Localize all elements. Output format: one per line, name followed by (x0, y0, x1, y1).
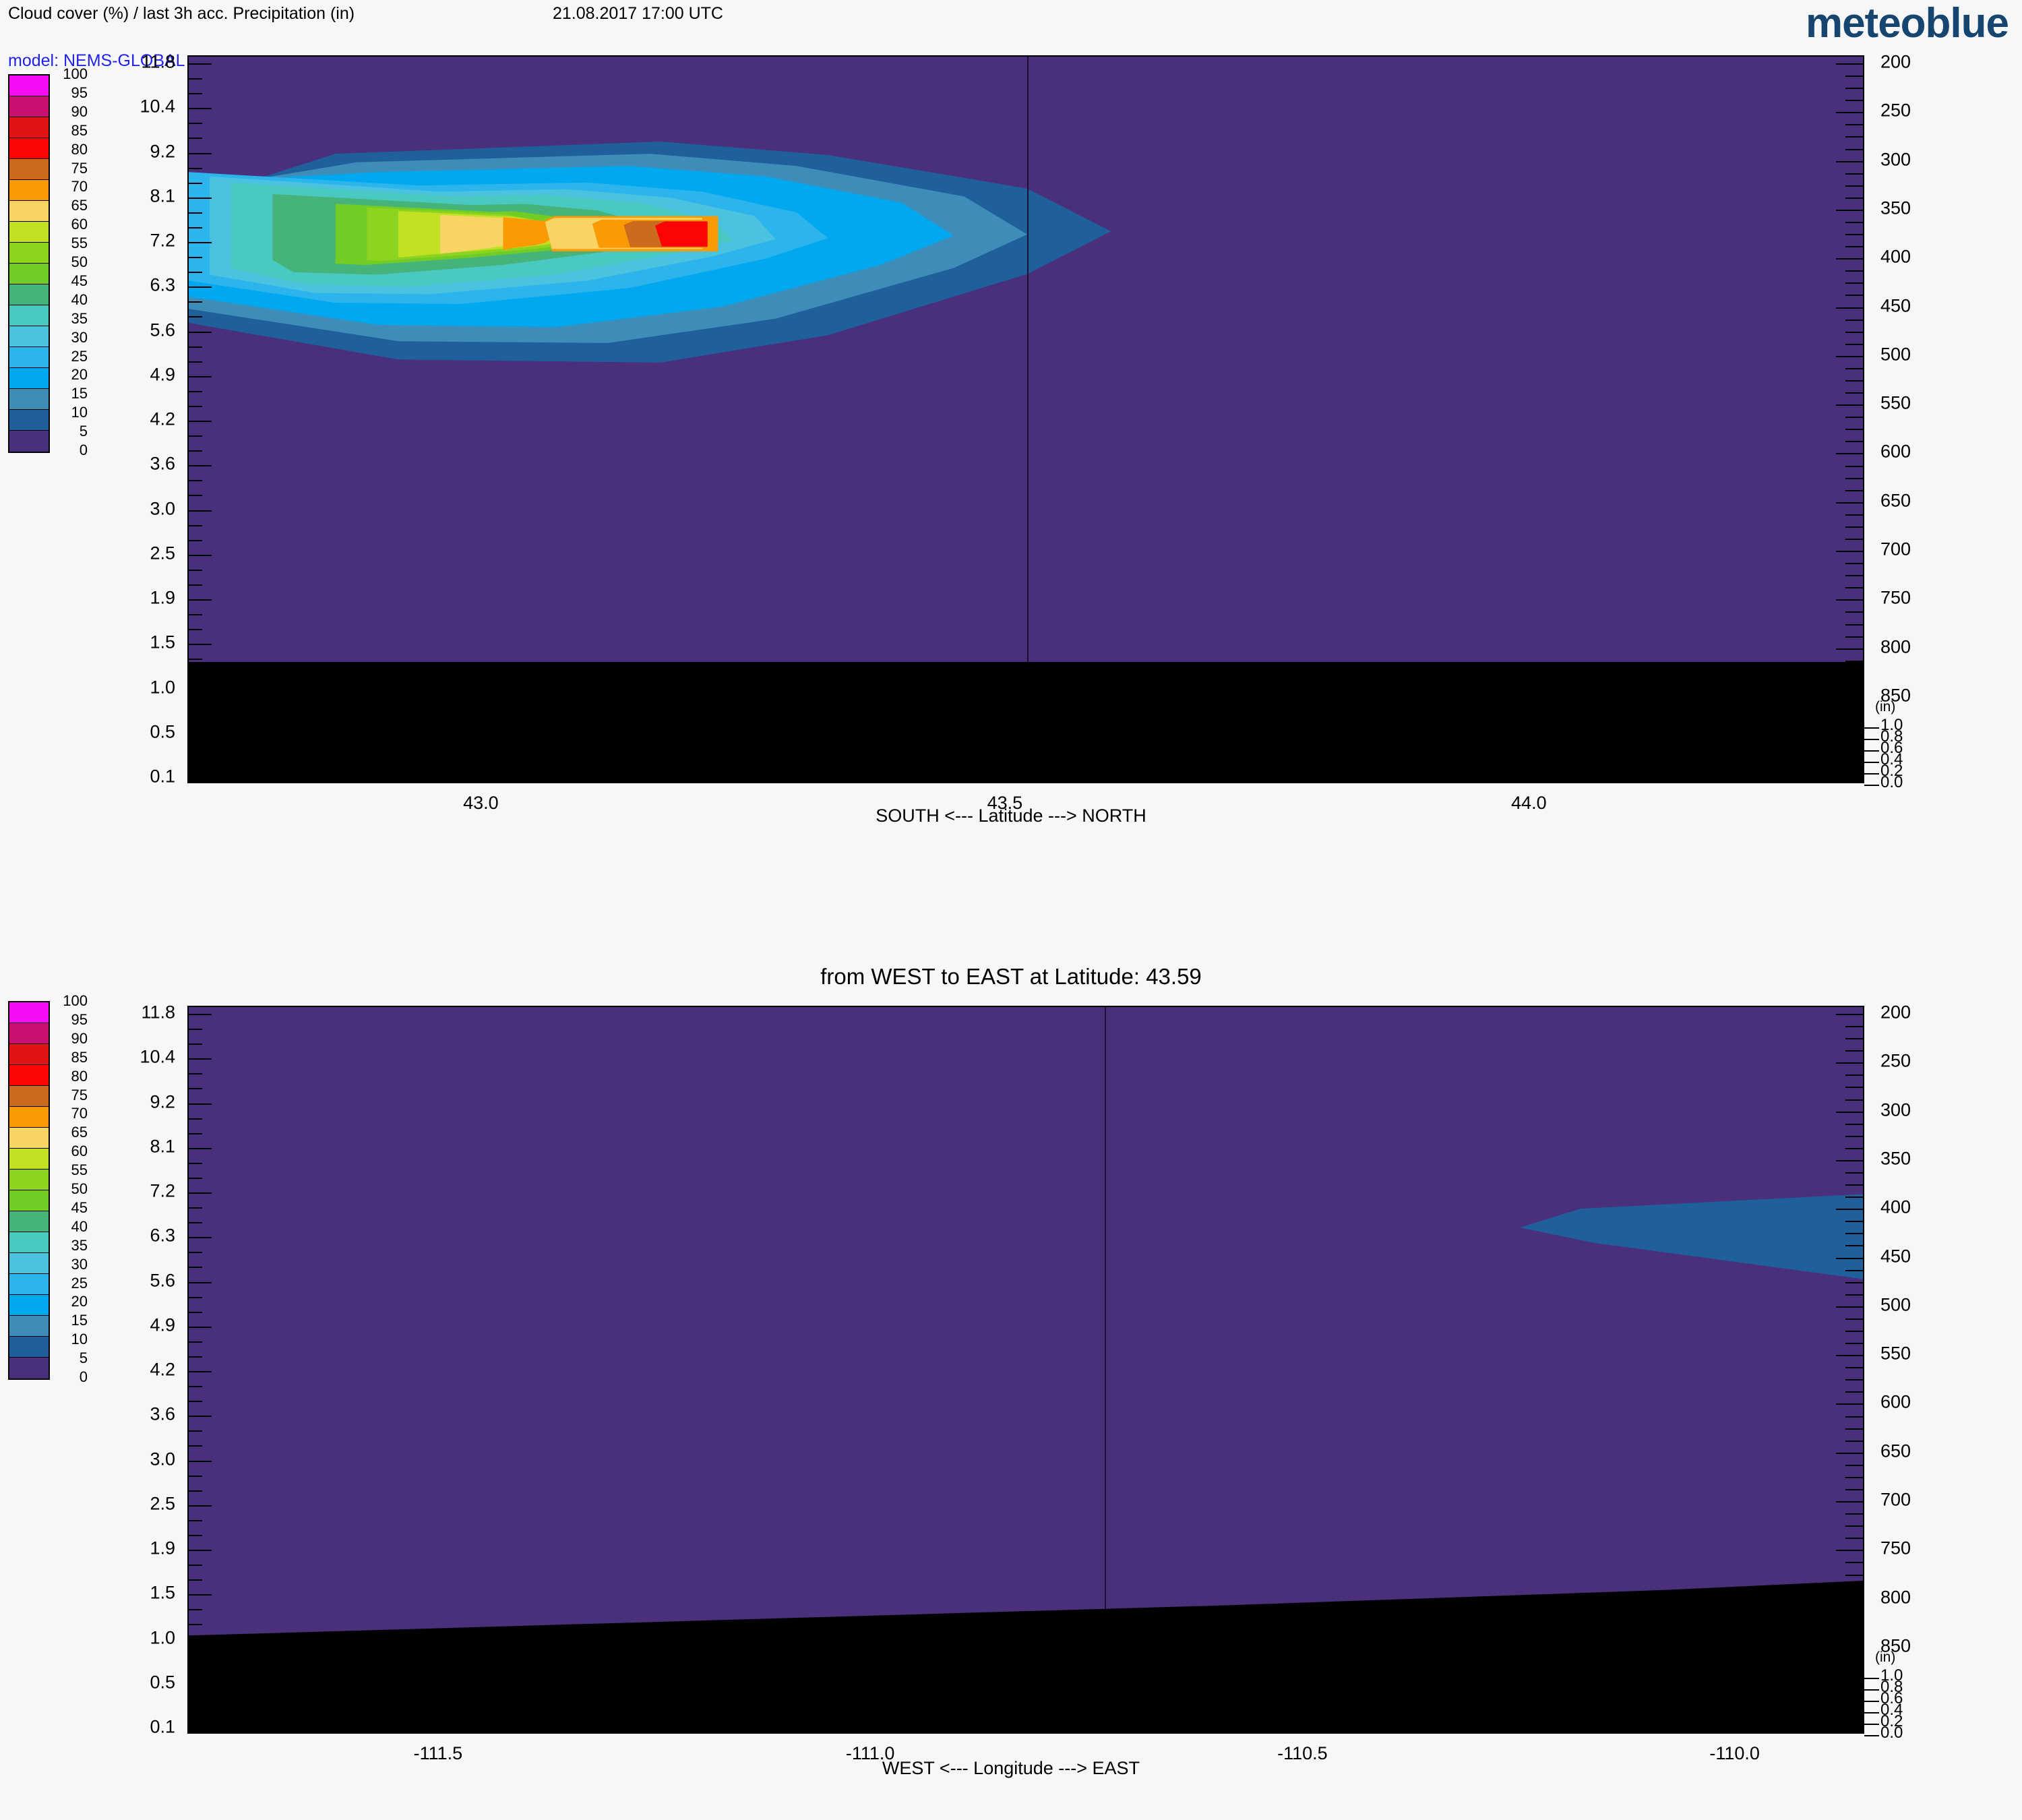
y-axis-label-pressure: 200 (1880, 52, 1961, 73)
y-axis-label-pressure: 700 (1880, 539, 1961, 560)
height-axis-tick (189, 614, 202, 615)
colorbar-swatch[interactable] (9, 1065, 49, 1086)
precip-scale-tick (1864, 762, 1879, 763)
precip-scale-tick (1864, 727, 1879, 729)
colorbar-tick-label: 45 (53, 272, 88, 290)
colorbar-swatch[interactable] (9, 222, 49, 243)
y-axis-label-height: 8.1 (94, 185, 175, 206)
y-axis-label-pressure: 450 (1880, 1246, 1961, 1267)
colorbar-tick-label: 0 (53, 442, 88, 459)
pressure-axis-tick (1845, 1538, 1863, 1539)
height-axis-tick (189, 1252, 202, 1253)
height-axis-tick (189, 1178, 202, 1179)
pressure-axis-tick (1845, 1660, 1863, 1661)
precip-scale-tick (1864, 739, 1879, 740)
height-axis-tick (189, 525, 202, 526)
colorbar-swatch[interactable] (9, 117, 49, 138)
height-axis-tick (189, 138, 202, 139)
colorbar-swatch[interactable] (9, 368, 49, 389)
pressure-axis-tick (1845, 1221, 1863, 1222)
colorbar-tick-label: 15 (53, 385, 88, 402)
height-axis-tick (189, 1073, 202, 1074)
colorbar-tick-label: 75 (53, 1087, 88, 1104)
pressure-axis-tick (1845, 1623, 1863, 1625)
pressure-axis-tick (1845, 124, 1863, 125)
colorbar-tick-label: 55 (53, 235, 88, 252)
y-axis-label-pressure: 800 (1880, 1587, 1961, 1608)
y-axis-label-height: 3.6 (94, 454, 175, 475)
colorbar-tick-label: 65 (53, 197, 88, 214)
height-axis-tick (189, 153, 212, 154)
colorbar-swatch[interactable] (9, 284, 49, 305)
colorbar-swatch[interactable] (9, 410, 49, 431)
pressure-axis-tick (1845, 1440, 1863, 1442)
colorbar-tick-label: 35 (53, 310, 88, 328)
colorbar-swatch[interactable] (9, 264, 49, 284)
y-axis-label-pressure: 550 (1880, 393, 1961, 414)
height-axis-tick (189, 332, 212, 333)
colorbar-swatch[interactable] (9, 1274, 49, 1295)
y-axis-label-height: 2.5 (94, 543, 175, 564)
pressure-axis-tick (1845, 1270, 1863, 1271)
pressure-axis-tick (1845, 563, 1863, 564)
height-axis-tick (189, 555, 212, 556)
pressure-axis-tick (1845, 1282, 1863, 1283)
pressure-axis-tick (1845, 1672, 1863, 1673)
height-axis-tick (189, 644, 212, 645)
height-axis-tick (189, 704, 202, 705)
pressure-axis-tick (1845, 441, 1863, 442)
pressure-axis-tick (1845, 1087, 1863, 1088)
colorbar-swatch[interactable] (9, 180, 49, 201)
height-axis-tick (189, 689, 212, 690)
pressure-axis-tick (1845, 1416, 1863, 1418)
colorbar-swatch[interactable] (9, 159, 49, 180)
colorbar-tick-label: 0 (53, 1368, 88, 1386)
colorbar-swatch[interactable] (9, 1149, 49, 1170)
colorbar-swatch[interactable] (9, 138, 49, 159)
pressure-axis-tick (1845, 380, 1863, 382)
colorbar-swatch[interactable] (9, 1044, 49, 1065)
height-axis-tick (189, 391, 202, 392)
pressure-axis-tick (1845, 539, 1863, 540)
height-axis-tick (189, 733, 212, 735)
pressure-axis-tick (1845, 185, 1863, 187)
pressure-axis-tick (1836, 1014, 1863, 1015)
cross-section-west-east: from WEST to EAST at Latitude: 43.59 100… (0, 964, 2022, 1820)
pressure-axis-tick (1845, 1477, 1863, 1478)
height-axis-tick (189, 1371, 212, 1372)
pressure-axis-tick (1836, 1306, 1863, 1308)
height-axis-tick (189, 1579, 202, 1581)
colorbar-tick-label: 60 (53, 1143, 88, 1160)
height-axis-tick (189, 763, 202, 764)
height-axis-tick (189, 227, 202, 229)
y-axis-label-height: 4.9 (94, 364, 175, 385)
y-axis-label-height: 1.5 (94, 632, 175, 653)
y-axis-label-height: 0.5 (94, 721, 175, 742)
height-axis-tick (189, 1684, 212, 1685)
colorbar-tick-label: 85 (53, 122, 88, 140)
x-axis-caption-south-north: SOUTH <--- Latitude ---> NORTH (0, 806, 2022, 826)
colorbar-swatch[interactable] (9, 1337, 49, 1358)
colorbar-tick-label: 80 (53, 1068, 88, 1085)
colorbar-swatch[interactable] (9, 1190, 49, 1211)
height-axis-tick (189, 1416, 212, 1417)
pressure-axis-tick (1845, 1233, 1863, 1234)
y-axis-label-pressure: 250 (1880, 100, 1961, 121)
y-axis-label-height: 1.0 (94, 677, 175, 698)
plot-area-west-east[interactable] (187, 1006, 1864, 1734)
height-axis-tick (189, 1103, 212, 1105)
colorbar-tick-label: 15 (53, 1312, 88, 1329)
height-axis-tick (189, 1327, 212, 1328)
colorbar-tick-label: 70 (53, 1105, 88, 1122)
pressure-axis-tick (1845, 575, 1863, 576)
height-axis-tick (189, 1088, 202, 1089)
height-axis-tick (189, 1148, 212, 1149)
plot-area-south-north[interactable] (187, 55, 1864, 783)
height-axis-tick (189, 1341, 202, 1343)
colorbar-tick-label: 80 (53, 141, 88, 158)
y-axis-label-pressure: 800 (1880, 636, 1961, 657)
pressure-axis-tick (1836, 1209, 1863, 1210)
y-axis-label-pressure: 650 (1880, 1440, 1961, 1461)
precip-unit-label: (in) (1875, 699, 1895, 715)
colorbar-swatch[interactable] (9, 326, 49, 347)
height-axis-tick (189, 1713, 202, 1715)
y-axis-label-height: 4.9 (94, 1314, 175, 1335)
colorbar-swatch[interactable] (9, 1170, 49, 1190)
colorbar-swatch[interactable] (9, 1002, 49, 1023)
colorbar-tick-label: 40 (53, 291, 88, 309)
precip-unit-label: (in) (1875, 1649, 1895, 1666)
y-axis-label-height: 7.2 (94, 1181, 175, 1202)
height-axis-tick (189, 1728, 212, 1730)
colorbar-swatch[interactable] (9, 201, 49, 222)
cloud-contour-core (655, 222, 708, 247)
y-axis-label-height: 0.5 (94, 1672, 175, 1693)
height-axis-tick (189, 1550, 212, 1551)
pressure-axis-tick (1845, 417, 1863, 418)
height-axis-tick (189, 1356, 202, 1358)
height-axis-tick (189, 421, 212, 422)
pressure-axis-tick (1845, 100, 1863, 101)
pressure-axis-tick (1845, 1050, 1863, 1052)
pressure-axis-tick (1845, 368, 1863, 369)
colorbar-tick-label: 35 (53, 1237, 88, 1254)
colorbar-swatch[interactable] (9, 1128, 49, 1149)
height-axis-tick (189, 1609, 202, 1610)
pressure-axis-tick (1845, 490, 1863, 491)
height-axis-tick (189, 1669, 202, 1670)
colorbar-tick-label: 10 (53, 1331, 88, 1348)
pressure-axis-tick (1845, 295, 1863, 296)
pressure-axis-tick (1845, 1136, 1863, 1137)
pressure-axis-tick (1836, 648, 1863, 650)
height-axis-tick (189, 1312, 202, 1313)
height-axis-tick (189, 78, 202, 80)
pressure-axis-tick (1845, 526, 1863, 528)
y-axis-label-height: 3.6 (94, 1404, 175, 1425)
colorbar-swatch[interactable] (9, 389, 49, 410)
height-axis-tick (189, 570, 202, 571)
y-axis-label-pressure: 650 (1880, 490, 1961, 511)
height-axis-tick (189, 1490, 202, 1492)
meteoblue-logo: meteoblue (1806, 3, 2009, 44)
pressure-axis-tick (1845, 88, 1863, 89)
colorbar-swatch[interactable] (9, 1358, 49, 1378)
colorbar-tick-label: 55 (53, 1161, 88, 1179)
pressure-axis-tick (1845, 466, 1863, 467)
y-axis-label-height: 1.9 (94, 588, 175, 609)
y-axis-label-height: 5.6 (94, 1270, 175, 1291)
colorbar-swatch[interactable] (9, 1295, 49, 1316)
y-axis-label-pressure: 450 (1880, 295, 1961, 316)
colorbar-swatch[interactable] (9, 1211, 49, 1232)
height-axis-tick (189, 1029, 202, 1030)
height-axis-tick (189, 242, 212, 243)
pressure-axis-tick (1845, 1587, 1863, 1588)
pressure-axis-tick (1845, 173, 1863, 175)
pressure-axis-tick (1845, 1172, 1863, 1174)
colorbar-swatch[interactable] (9, 1232, 49, 1253)
y-axis-label-pressure: 750 (1880, 1538, 1961, 1559)
colorbar-swatch[interactable] (9, 1023, 49, 1044)
pressure-axis-tick (1845, 661, 1863, 662)
pressure-axis-tick (1845, 1074, 1863, 1076)
height-axis-tick (189, 286, 212, 288)
colorbar-tick-label: 100 (53, 992, 88, 1010)
pressure-axis-tick (1845, 733, 1863, 735)
height-axis-tick (189, 659, 202, 660)
height-axis-tick (189, 1282, 212, 1283)
colorbar-tick-label: 95 (53, 1011, 88, 1029)
terrain-mask (189, 662, 1863, 783)
height-axis-tick (189, 719, 202, 720)
pressure-axis-tick (1845, 429, 1863, 430)
height-axis-tick (189, 778, 212, 779)
pressure-axis-tick (1845, 1294, 1863, 1296)
height-axis-tick (189, 1237, 212, 1238)
pressure-axis-tick (1845, 1331, 1863, 1332)
pressure-axis-tick (1845, 1575, 1863, 1576)
terrain-mask (189, 1007, 1864, 1734)
y-axis-label-height: 9.2 (94, 141, 175, 162)
pressure-axis-tick (1836, 307, 1863, 309)
colorbar-swatch[interactable] (9, 347, 49, 368)
pressure-axis-tick (1845, 478, 1863, 479)
colorbar-swatch[interactable] (9, 96, 49, 117)
pressure-axis-tick (1845, 344, 1863, 345)
precip-scale-tick (1864, 1689, 1879, 1691)
colorbar-swatch[interactable] (9, 243, 49, 264)
colorbar-tick-label: 30 (53, 329, 88, 346)
pressure-axis-tick (1836, 1258, 1863, 1259)
height-axis-tick (189, 1014, 212, 1015)
precip-scale-tick (1864, 1724, 1879, 1725)
pressure-axis-tick (1836, 161, 1863, 162)
height-axis-tick (189, 1222, 202, 1223)
pressure-axis-tick (1845, 709, 1863, 710)
pressure-axis-tick (1845, 222, 1863, 223)
pressure-axis-tick (1845, 149, 1863, 150)
pressure-axis-tick (1836, 551, 1863, 552)
height-axis-tick (189, 1163, 202, 1164)
height-axis-tick (189, 1401, 202, 1402)
colorbar-tick-label: 40 (53, 1218, 88, 1236)
pressure-axis-tick (1845, 1184, 1863, 1186)
pressure-axis-tick (1845, 270, 1863, 272)
height-axis-tick (189, 183, 202, 184)
height-axis-tick (189, 1445, 202, 1447)
colorbar-swatch[interactable] (9, 305, 49, 326)
y-axis-label-height: 3.0 (94, 498, 175, 519)
pressure-axis-tick (1836, 1647, 1863, 1649)
height-axis-tick (189, 212, 202, 214)
colorbar-tick-label: 90 (53, 1030, 88, 1048)
height-axis-tick (189, 748, 202, 750)
pressure-axis-tick (1845, 721, 1863, 723)
y-axis-label-height: 5.6 (94, 320, 175, 340)
height-axis-tick (189, 1118, 202, 1120)
pressure-axis-tick (1845, 1026, 1863, 1027)
pressure-axis-tick (1845, 587, 1863, 588)
pressure-axis-tick (1845, 1513, 1863, 1515)
y-axis-label-pressure: 300 (1880, 149, 1961, 170)
y-axis-label-pressure: 400 (1880, 1197, 1961, 1218)
y-axis-label-pressure: 200 (1880, 1002, 1961, 1023)
colorbar-swatch[interactable] (9, 431, 49, 452)
height-axis-tick (189, 1654, 202, 1656)
colorbar-swatch[interactable] (9, 1253, 49, 1274)
pressure-axis-tick (1845, 246, 1863, 247)
height-axis-tick (189, 1192, 212, 1194)
height-axis-tick (189, 1133, 202, 1134)
pressure-axis-tick (1836, 1550, 1863, 1551)
y-axis-label-height: 4.2 (94, 409, 175, 430)
pressure-axis-tick (1845, 1379, 1863, 1381)
y-axis-label-pressure: 400 (1880, 247, 1961, 268)
colorbar-tick-label: 100 (53, 65, 88, 83)
y-axis-label-pressure: 700 (1880, 1490, 1961, 1511)
y-axis-label-height: 0.1 (94, 1717, 175, 1738)
y-axis-label-pressure: 750 (1880, 588, 1961, 609)
pressure-axis-tick (1836, 697, 1863, 698)
height-axis-tick (189, 1699, 202, 1700)
pressure-axis-tick (1845, 685, 1863, 686)
colorbar-swatch[interactable] (9, 1107, 49, 1128)
height-axis-tick (189, 1430, 202, 1432)
height-axis-tick (189, 1058, 212, 1060)
x-axis-caption-west-east: WEST <--- Longitude ---> EAST (0, 1758, 2022, 1779)
precip-scale-label: 0.0 (1880, 773, 1903, 792)
colorbar-swatch[interactable] (9, 1316, 49, 1337)
pressure-axis-tick (1845, 1099, 1863, 1101)
pressure-axis-tick (1845, 1245, 1863, 1246)
pressure-axis-tick (1845, 1343, 1863, 1344)
y-axis-label-pressure: 300 (1880, 1099, 1961, 1120)
pressure-axis-tick (1845, 1038, 1863, 1039)
pressure-axis-tick (1836, 112, 1863, 113)
height-axis-tick (189, 1639, 212, 1641)
colorbar-swatches[interactable] (8, 1001, 50, 1380)
pressure-axis-tick (1845, 1428, 1863, 1430)
pressure-axis-tick (1845, 1489, 1863, 1490)
y-axis-label-height: 11.8 (94, 52, 175, 73)
height-axis-tick (189, 465, 212, 466)
height-axis-tick (189, 361, 202, 363)
height-axis-tick (189, 510, 212, 512)
height-axis-tick (189, 301, 202, 303)
precip-scale-tick (1864, 773, 1879, 775)
precip-scale-label: 0.0 (1880, 1724, 1903, 1742)
y-axis-label-pressure: 550 (1880, 1343, 1961, 1364)
height-axis-tick (189, 272, 202, 273)
colorbar-swatch[interactable] (9, 1086, 49, 1107)
y-axis-label-height: 1.0 (94, 1627, 175, 1648)
height-axis-tick (189, 435, 202, 437)
colorbar-tick-label: 20 (53, 366, 88, 384)
height-axis-tick (189, 599, 212, 601)
height-axis-tick (189, 93, 202, 94)
precip-scale-tick (1864, 785, 1879, 786)
pressure-axis-tick (1845, 1635, 1863, 1637)
pressure-axis-tick (1836, 1501, 1863, 1503)
y-axis-label-height: 3.0 (94, 1449, 175, 1469)
precip-scale-tick (1864, 1712, 1879, 1713)
colorbar-tick-label: 85 (53, 1049, 88, 1066)
y-axis-label-height: 6.3 (94, 275, 175, 296)
pressure-axis-tick (1836, 453, 1863, 454)
pressure-axis-tick (1836, 1112, 1863, 1113)
pressure-axis-tick (1836, 63, 1863, 65)
pressure-axis-tick (1836, 1403, 1863, 1405)
colorbar-tick-label: 50 (53, 1180, 88, 1198)
pressure-axis-tick (1845, 1684, 1863, 1685)
marker-line (1027, 57, 1029, 662)
y-axis-label-height: 6.3 (94, 1225, 175, 1246)
colorbar-tick-label: 75 (53, 160, 88, 177)
pressure-axis-tick (1845, 1318, 1863, 1320)
pressure-axis-tick (1845, 1124, 1863, 1125)
pressure-axis-tick (1845, 392, 1863, 394)
colorbar-tick-label: 10 (53, 404, 88, 421)
y-axis-label-pressure: 250 (1880, 1051, 1961, 1072)
colorbar-swatch[interactable] (9, 75, 49, 96)
height-axis-tick (189, 1624, 202, 1625)
height-axis-tick (189, 123, 202, 124)
pressure-axis-tick (1845, 234, 1863, 235)
height-axis-tick (189, 346, 202, 348)
pressure-axis-tick (1845, 1465, 1863, 1466)
height-axis-tick (189, 257, 202, 258)
colorbar-tick-label: 65 (53, 1124, 88, 1141)
y-axis-label-pressure: 600 (1880, 1392, 1961, 1413)
pressure-axis-tick (1845, 75, 1863, 77)
marker-line (1105, 1007, 1106, 1609)
chart-title-west-east: from WEST to EAST at Latitude: 43.59 (0, 964, 2022, 990)
pressure-axis-tick (1845, 332, 1863, 333)
y-axis-label-height: 2.5 (94, 1493, 175, 1514)
height-axis-tick (189, 1461, 212, 1462)
height-axis-tick (189, 1535, 202, 1536)
pressure-axis-tick (1845, 514, 1863, 516)
pressure-axis-tick (1845, 1367, 1863, 1368)
colorbar-swatches[interactable] (8, 74, 50, 453)
height-axis-tick (189, 480, 202, 481)
y-axis-label-height: 10.4 (94, 96, 175, 117)
